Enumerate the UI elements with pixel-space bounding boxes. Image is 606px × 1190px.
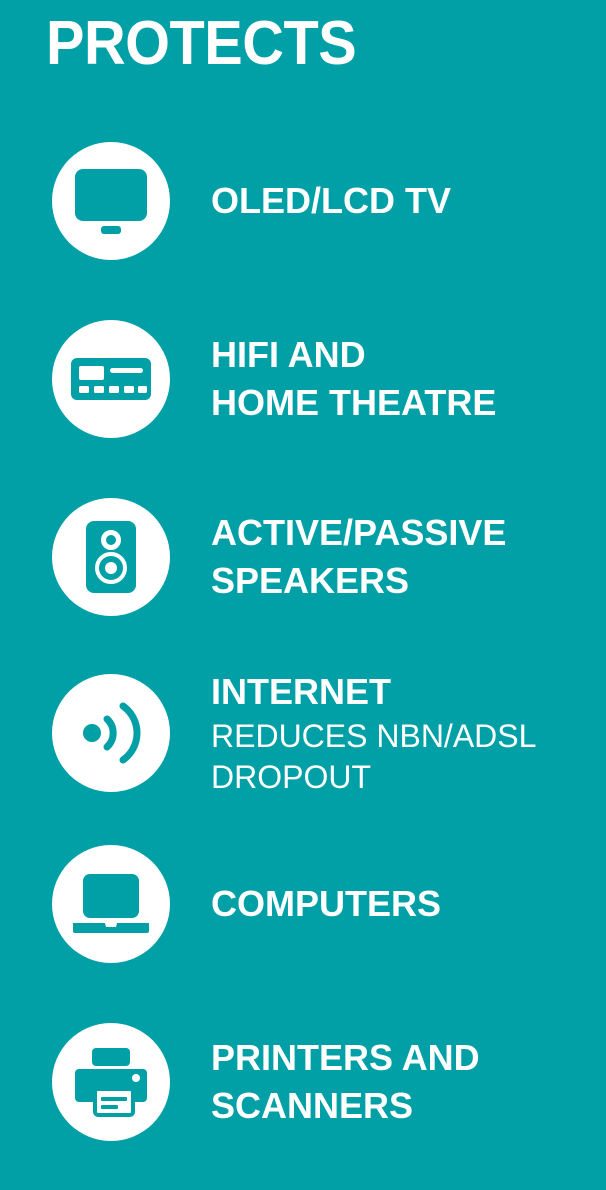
list-item-label: HIFI AND HOME THEATRE: [211, 320, 601, 438]
list-item-line: HOME THEATRE: [211, 379, 601, 427]
list-item-line: OLED/LCD TV: [211, 177, 601, 225]
tv-icon-badge: [52, 142, 170, 260]
list-item[interactable]: ACTIVE/PASSIVE SPEAKERS: [0, 498, 606, 618]
list-item[interactable]: OLED/LCD TV: [0, 142, 606, 262]
speaker-icon-badge: [52, 498, 170, 616]
list-item-line: COMPUTERS: [211, 880, 601, 928]
speaker-icon: [85, 520, 137, 594]
list-item-label: OLED/LCD TV: [211, 142, 601, 260]
list-item[interactable]: INTERNET REDUCES NBN/ADSL DROPOUT: [0, 674, 606, 794]
list-item[interactable]: PRINTERS AND SCANNERS: [0, 1023, 606, 1143]
hifi-amplifier-icon-badge: [52, 320, 170, 438]
list-item-label: INTERNET REDUCES NBN/ADSL DROPOUT: [211, 674, 601, 792]
laptop-icon: [71, 872, 151, 936]
list-item-line: SPEAKERS: [211, 557, 601, 605]
printer-icon: [73, 1047, 149, 1117]
wifi-signal-icon: [80, 700, 142, 766]
list-item-subline: DROPOUT: [211, 757, 601, 798]
list-item[interactable]: COMPUTERS: [0, 845, 606, 965]
list-item-line: HIFI AND: [211, 331, 601, 379]
hifi-amplifier-icon: [70, 357, 152, 401]
list-item-line: INTERNET: [211, 668, 601, 716]
tv-icon: [72, 167, 150, 235]
laptop-icon-badge: [52, 845, 170, 963]
printer-icon-badge: [52, 1023, 170, 1141]
list-item-line: SCANNERS: [211, 1082, 601, 1130]
list-item-subline: REDUCES NBN/ADSL: [211, 716, 601, 757]
list-item-label: ACTIVE/PASSIVE SPEAKERS: [211, 498, 601, 616]
wifi-signal-icon-badge: [52, 674, 170, 792]
protects-list: OLED/LCD TV HIFI AND HOME THEATRE: [0, 0, 606, 1190]
protects-panel: PROTECTS OLED/LCD TV: [0, 0, 606, 1190]
list-item-line: ACTIVE/PASSIVE: [211, 509, 601, 557]
list-item-line: PRINTERS AND: [211, 1034, 601, 1082]
list-item[interactable]: HIFI AND HOME THEATRE: [0, 320, 606, 440]
list-item-label: PRINTERS AND SCANNERS: [211, 1023, 601, 1141]
list-item-label: COMPUTERS: [211, 845, 601, 963]
